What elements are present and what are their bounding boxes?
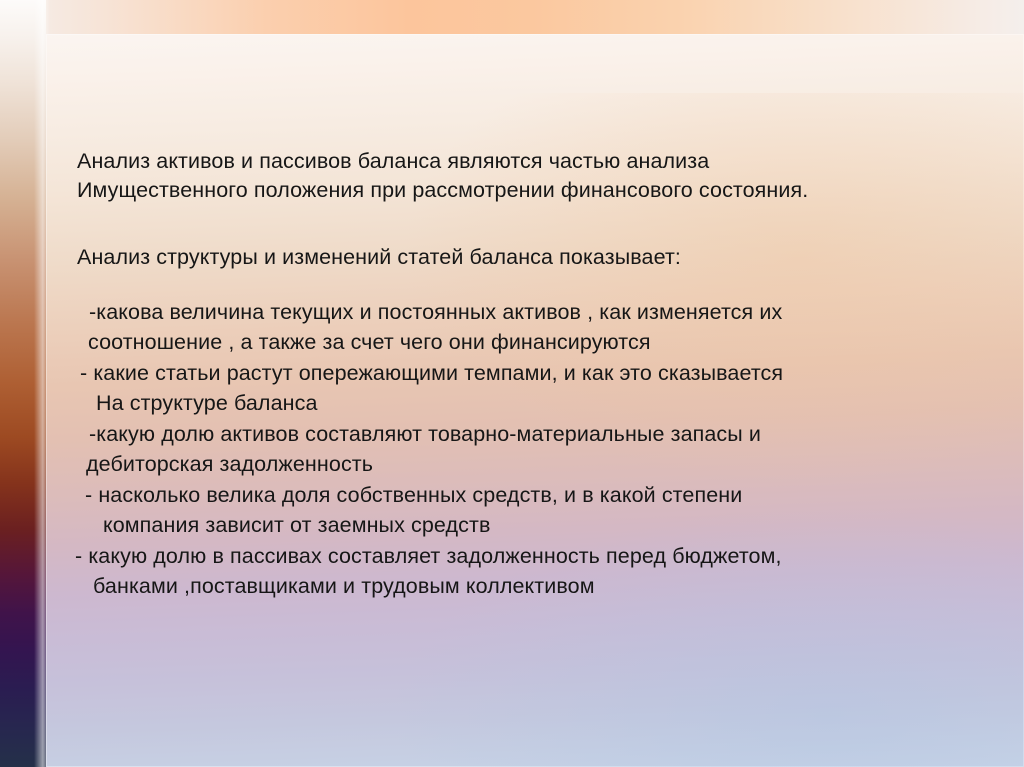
- bullet-line-2: На структуре баланса: [46, 388, 986, 418]
- list-item: -какую долю активов составляют товарно-м…: [46, 419, 986, 479]
- bullet-line-2: банками ,поставщиками и трудовым коллект…: [46, 571, 986, 601]
- slide-viewer: Анализ активов и пассивов баланса являют…: [0, 0, 1024, 767]
- bullet-line-2: дебиторская задолженность: [46, 449, 986, 479]
- left-gradient-ribbon: [0, 0, 46, 767]
- bullet-line-2: соотношение , а также за счет чего они ф…: [46, 327, 986, 357]
- lead-in-paragraph: Анализ структуры и изменений статей бала…: [77, 243, 1007, 272]
- bullet-line-1: -какова величина текущих и постоянных ак…: [46, 297, 986, 327]
- list-item: - какие статьи растут опережающими темпа…: [46, 358, 986, 418]
- bullet-list: -какова величина текущих и постоянных ак…: [46, 297, 986, 601]
- bullet-line-1: - какую долю в пассивах составляет задол…: [46, 541, 986, 571]
- intro-paragraph: Анализ активов и пассивов баланса являют…: [77, 147, 1007, 205]
- bullet-line-1: - какие статьи растут опережающими темпа…: [46, 358, 986, 388]
- list-item: - какую долю в пассивах составляет задол…: [46, 541, 986, 601]
- list-item: -какова величина текущих и постоянных ак…: [46, 297, 986, 357]
- bullet-line-1: - насколько велика доля собственных сред…: [46, 480, 986, 510]
- bullet-line-2: компания зависит от заемных средств: [46, 510, 986, 540]
- list-item: - насколько велика доля собственных сред…: [46, 480, 986, 540]
- slide-canvas: Анализ активов и пассивов баланса являют…: [46, 34, 1024, 767]
- bullet-line-1: -какую долю активов составляют товарно-м…: [46, 419, 986, 449]
